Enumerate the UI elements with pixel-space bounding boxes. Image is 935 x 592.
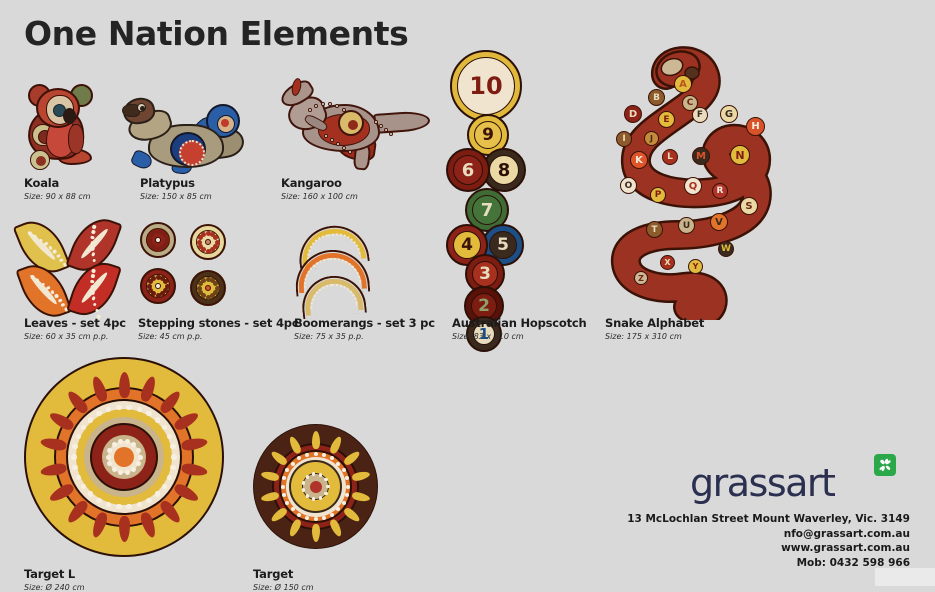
hopscotch-artwork: 10986754321 xyxy=(440,48,535,318)
brand-wordmark: grassart xyxy=(690,462,870,504)
product-name-koala: Koala xyxy=(24,176,91,190)
hopscotch-number: 6 xyxy=(462,160,475,181)
hopscotch-number: 5 xyxy=(497,235,509,255)
snake-letter-disc: S xyxy=(740,197,758,215)
product-size-stepping-stones: Size: 45 cm p.p. xyxy=(138,332,298,341)
product-size-platypus: Size: 150 x 85 cm xyxy=(140,192,212,201)
page-title: One Nation Elements xyxy=(24,14,408,53)
snake-letter-disc: W xyxy=(718,241,734,257)
caption-boomerangs: Boomerangs - set 3 pc Size: 75 x 35 p.p. xyxy=(294,316,435,341)
caption-target-l: Target L Size: Ø 240 cm xyxy=(24,567,85,592)
snake-alphabet-artwork: ABCDEFGHIJKLMNOPQRSTUVWXYZ xyxy=(600,45,780,320)
koala-rosette-lower xyxy=(30,150,50,170)
pinwheel-icon xyxy=(874,454,896,476)
contact-block: 13 McLochlan Street Mount Waverley, Vic.… xyxy=(560,512,910,570)
product-size-kangaroo: Size: 160 x 100 cm xyxy=(281,192,358,201)
caption-koala: Koala Size: 90 x 88 cm xyxy=(24,176,91,201)
hopscotch-number: 7 xyxy=(481,200,494,221)
caption-snake: Snake Alphabet Size: 175 x 310 cm xyxy=(605,316,704,341)
snake-letter-disc: M xyxy=(692,147,710,165)
poster-canvas: One Nation Elements Koala Size: 90 x 88 … xyxy=(0,0,935,586)
target-l-artwork xyxy=(24,357,224,557)
product-size-target-l: Size: Ø 240 cm xyxy=(24,583,85,592)
snake-letter-disc: R xyxy=(712,183,728,199)
caption-platypus: Platypus Size: 150 x 85 cm xyxy=(140,176,212,201)
snake-letter-disc: Q xyxy=(684,177,702,195)
snake-letter-disc: L xyxy=(662,149,678,165)
product-size-boomerangs: Size: 75 x 35 p.p. xyxy=(294,332,435,341)
kangaroo-tail xyxy=(373,110,430,134)
product-name-platypus: Platypus xyxy=(140,176,212,190)
boomerang xyxy=(295,221,367,251)
snake-letter-disc: V xyxy=(710,213,728,231)
product-size-koala: Size: 90 x 88 cm xyxy=(24,192,91,201)
product-name-kangaroo: Kangaroo xyxy=(281,176,358,190)
snake-letter-disc: T xyxy=(646,221,663,238)
snake-letter-disc: X xyxy=(660,255,675,270)
stone-core xyxy=(205,239,211,245)
scroll-overlay xyxy=(875,568,935,586)
hopscotch-number: 4 xyxy=(461,235,473,255)
contact-website[interactable]: www.grassart.com.au xyxy=(560,541,910,556)
hopscotch-cell: 10 xyxy=(450,50,522,122)
stepping-stone xyxy=(190,224,226,260)
snake-letter-disc: K xyxy=(630,151,648,169)
snake-letter-disc: A xyxy=(674,75,692,93)
kangaroo-artwork xyxy=(278,82,430,170)
pinwheel-glyph xyxy=(877,457,893,473)
snake-letter-disc: J xyxy=(644,131,659,146)
stepping-stone xyxy=(140,268,176,304)
product-name-hopscotch: Australian Hopscotch xyxy=(452,316,587,330)
contact-address: 13 McLochlan Street Mount Waverley, Vic.… xyxy=(560,512,910,527)
target-center xyxy=(310,481,322,493)
snake-letter-disc: P xyxy=(650,187,666,203)
snake-letter-disc: B xyxy=(648,89,665,106)
platypus-body-rosette xyxy=(170,132,206,166)
kangaroo-sun-rosette xyxy=(338,110,364,136)
snake-letter-disc: U xyxy=(678,217,695,234)
hopscotch-cell: 6 xyxy=(446,148,490,192)
contact-email[interactable]: nfo@grassart.com.au xyxy=(560,527,910,542)
snake-letter-disc: I xyxy=(616,131,632,147)
leaf-dots xyxy=(86,213,120,225)
product-name-leaves: Leaves - set 4pc xyxy=(24,316,126,330)
snake-letter-disc: Y xyxy=(688,259,703,274)
caption-kangaroo: Kangaroo Size: 160 x 100 cm xyxy=(281,176,358,201)
product-name-target-l: Target L xyxy=(24,567,85,581)
hopscotch-number: 2 xyxy=(478,296,490,316)
hopscotch-number: 8 xyxy=(498,160,511,181)
brand-logo: grassart xyxy=(690,462,870,504)
stepping-stone xyxy=(190,270,226,306)
product-size-leaves: Size: 60 x 35 cm p.p. xyxy=(24,332,126,341)
snake-letter-disc: Z xyxy=(634,271,648,285)
hopscotch-number: 9 xyxy=(482,125,494,145)
snake-letter-disc: E xyxy=(658,111,675,128)
target-artwork xyxy=(253,424,378,549)
snake-letter-disc: G xyxy=(720,105,738,123)
product-size-target: Size: Ø 150 cm xyxy=(253,583,314,592)
hopscotch-number: 1 xyxy=(479,325,489,343)
snake-letter-disc: H xyxy=(746,117,765,136)
snake-letter-disc: N xyxy=(730,145,750,165)
caption-target: Target Size: Ø 150 cm xyxy=(253,567,314,592)
stepping-stones-artwork xyxy=(138,222,234,308)
product-name-boomerangs: Boomerangs - set 3 pc xyxy=(294,316,435,330)
leaf-dots xyxy=(15,215,48,228)
product-name-target: Target xyxy=(253,567,314,581)
stone-core xyxy=(205,285,211,291)
koala-arm xyxy=(68,124,84,154)
product-size-snake: Size: 175 x 310 cm xyxy=(605,332,704,341)
product-name-stepping-stones: Stepping stones - set 4pc xyxy=(138,316,298,330)
leaves-artwork xyxy=(22,216,132,308)
product-name-snake: Snake Alphabet xyxy=(605,316,704,330)
hopscotch-number: 3 xyxy=(479,264,491,284)
snake-letter-disc: O xyxy=(620,177,637,194)
boomerangs-artwork xyxy=(292,226,376,306)
stone-core xyxy=(155,283,161,289)
snake-letter-disc: F xyxy=(692,107,708,123)
target-center xyxy=(114,447,134,467)
koala-nose xyxy=(63,108,76,124)
caption-leaves: Leaves - set 4pc Size: 60 x 35 cm p.p. xyxy=(24,316,126,341)
caption-stepping-stones: Stepping stones - set 4pc Size: 45 cm p.… xyxy=(138,316,298,341)
hopscotch-number: 10 xyxy=(469,72,502,100)
snake-letter-disc: D xyxy=(624,105,642,123)
stone-core xyxy=(155,237,161,243)
contact-mobile: Mob: 0432 598 966 xyxy=(560,556,910,571)
stepping-stone xyxy=(140,222,176,258)
boomerang xyxy=(293,247,368,274)
product-size-hopscotch: Size: 83 x 310 cm xyxy=(452,332,587,341)
caption-hopscotch: Australian Hopscotch Size: 83 x 310 cm xyxy=(452,316,587,341)
platypus-eye xyxy=(137,103,146,112)
